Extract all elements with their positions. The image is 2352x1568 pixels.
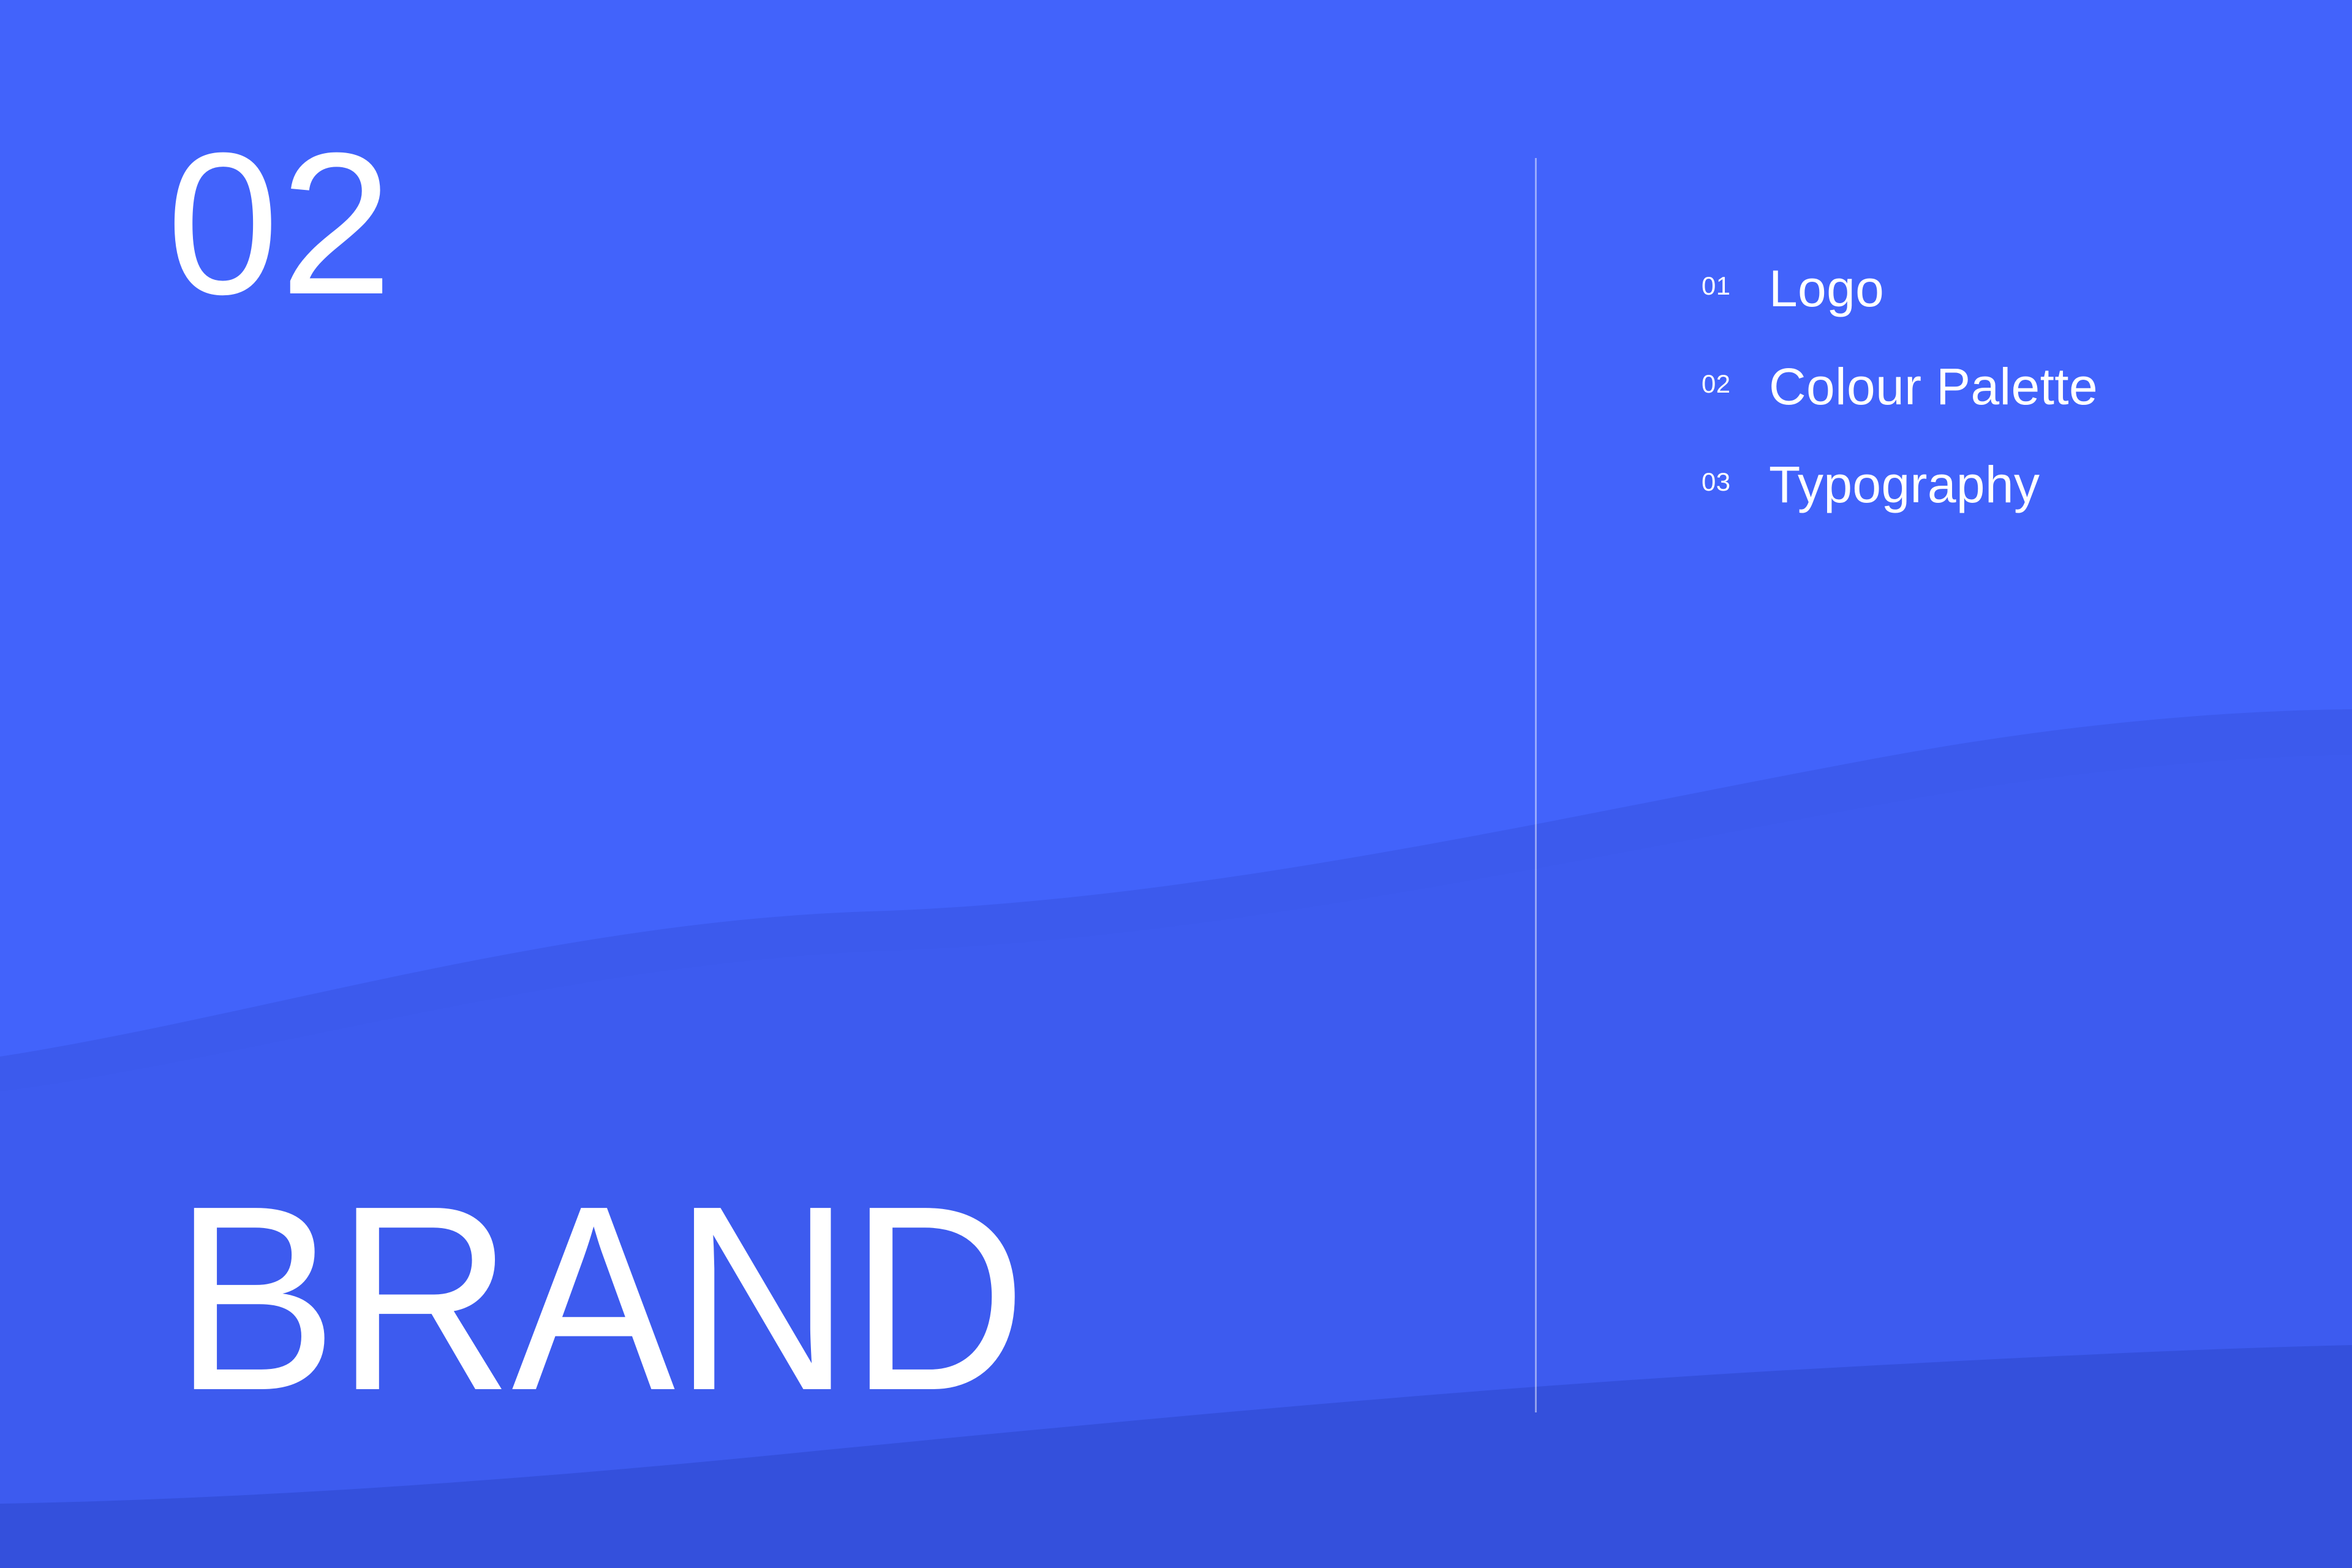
agenda-item-label: Typography	[1769, 456, 2040, 513]
agenda-item-label: Logo	[1769, 260, 1884, 317]
agenda-item-logo[interactable]: 01 Logo	[1702, 260, 2253, 358]
agenda-item-typography[interactable]: 03 Typography	[1702, 456, 2253, 554]
agenda-list: 01 Logo 02 Colour Palette 03 Typography	[1702, 260, 2253, 554]
section-number: 02	[167, 123, 393, 325]
vertical-divider	[1535, 158, 1537, 1412]
page-title: BRAND	[174, 1167, 1025, 1430]
agenda-item-index: 02	[1702, 371, 1731, 397]
agenda-item-index: 03	[1702, 469, 1731, 495]
agenda-item-label: Colour Palette	[1769, 358, 2098, 415]
agenda-item-index: 01	[1702, 273, 1731, 299]
brand-section-slide: 02 01 Logo 02 Colour Palette 03 Typograp…	[0, 0, 2352, 1568]
agenda-item-colour-palette[interactable]: 02 Colour Palette	[1702, 358, 2253, 456]
